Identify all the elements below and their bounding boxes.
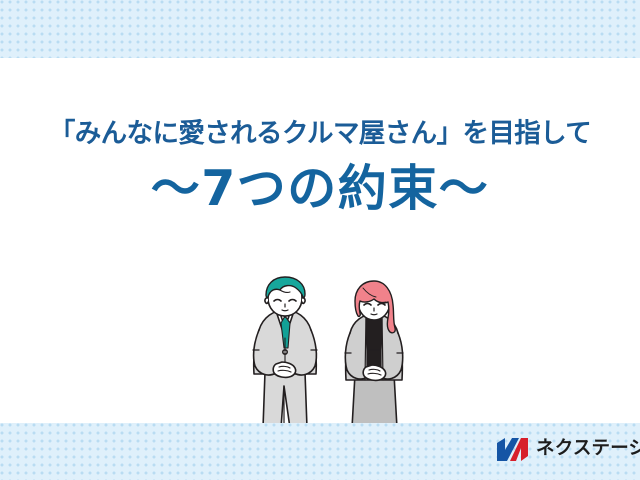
brand-name-text: ネクステージ <box>536 440 640 459</box>
headline-main-text: 「みんなに愛されるクルマ屋さん」を目指して <box>0 118 640 149</box>
top-dot-band <box>0 0 640 58</box>
nextage-n-logo-icon <box>497 437 529 462</box>
female-staff-figure <box>345 281 403 428</box>
promo-slide: 「みんなに愛されるクルマ屋さん」を目指して ～7つの約束～ <box>0 0 640 480</box>
staff-illustration-svg <box>243 276 419 428</box>
male-staff-figure <box>253 277 317 428</box>
two-bowing-staff-illustration <box>243 276 419 428</box>
headline-block: 「みんなに愛されるクルマ屋さん」を目指して ～7つの約束～ <box>0 118 640 215</box>
brand-logo: ネクステージ <box>497 437 640 462</box>
headline-sub-text: ～7つの約束～ <box>0 163 640 214</box>
